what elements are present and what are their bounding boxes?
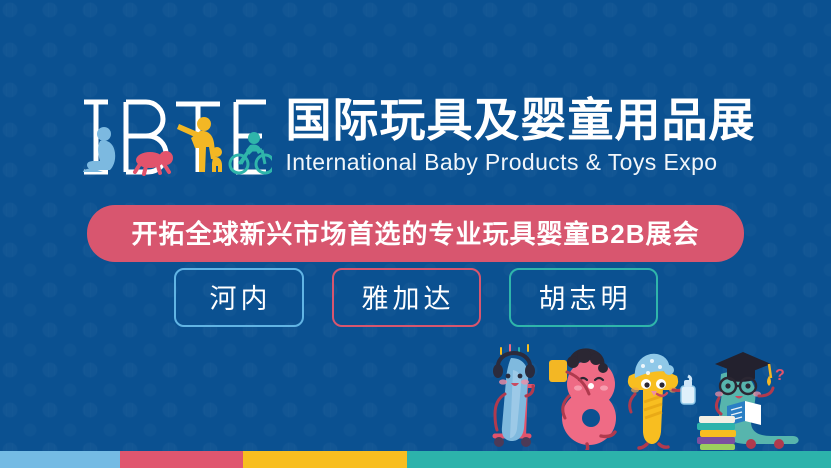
color-segment-rose — [120, 451, 243, 468]
mascot-e-teal-graduate: ? — [697, 352, 799, 450]
baby-bottle-icon — [681, 376, 695, 404]
svg-text:?: ? — [775, 367, 785, 384]
mascot-group: ? — [483, 340, 813, 450]
mascot-b-pink — [549, 348, 616, 450]
color-segment-light-blue — [0, 451, 120, 468]
city-button-hanoi[interactable]: 河内 — [174, 268, 304, 327]
logo-row: 国际玩具及婴童用品展 International Baby Products &… — [0, 96, 831, 176]
ibte-logo-mark — [76, 98, 272, 176]
city-button-jakarta[interactable]: 雅加达 — [332, 268, 481, 327]
expo-title-cn: 国际玩具及婴童用品展 — [286, 96, 756, 144]
book-stack — [697, 416, 736, 450]
bottom-color-bar — [0, 451, 831, 468]
expo-title-en: International Baby Products & Toys Expo — [286, 149, 718, 176]
figure-mother-kneeling — [83, 127, 115, 172]
slogan-banner: 开拓全球新兴市场首选的专业玩具婴童B2B展会 — [87, 205, 743, 262]
logo-text-column: 国际玩具及婴童用品展 International Baby Products &… — [286, 96, 756, 176]
slogan-banner-wrap: 开拓全球新兴市场首选的专业玩具婴童B2B展会 — [0, 205, 831, 262]
mascot-t-yellow-bottle — [628, 354, 695, 448]
expo-poster: 国际玩具及婴童用品展 International Baby Products &… — [0, 0, 831, 468]
figure-parent-and-child — [177, 117, 222, 172]
city-button-group: 河内 雅加达 胡志明 — [0, 268, 831, 327]
city-button-ho-chi-minh[interactable]: 胡志明 — [509, 268, 658, 327]
color-segment-teal — [407, 451, 831, 468]
color-segment-yellow — [243, 451, 407, 468]
mascot-i-blue-scooter — [493, 345, 535, 447]
